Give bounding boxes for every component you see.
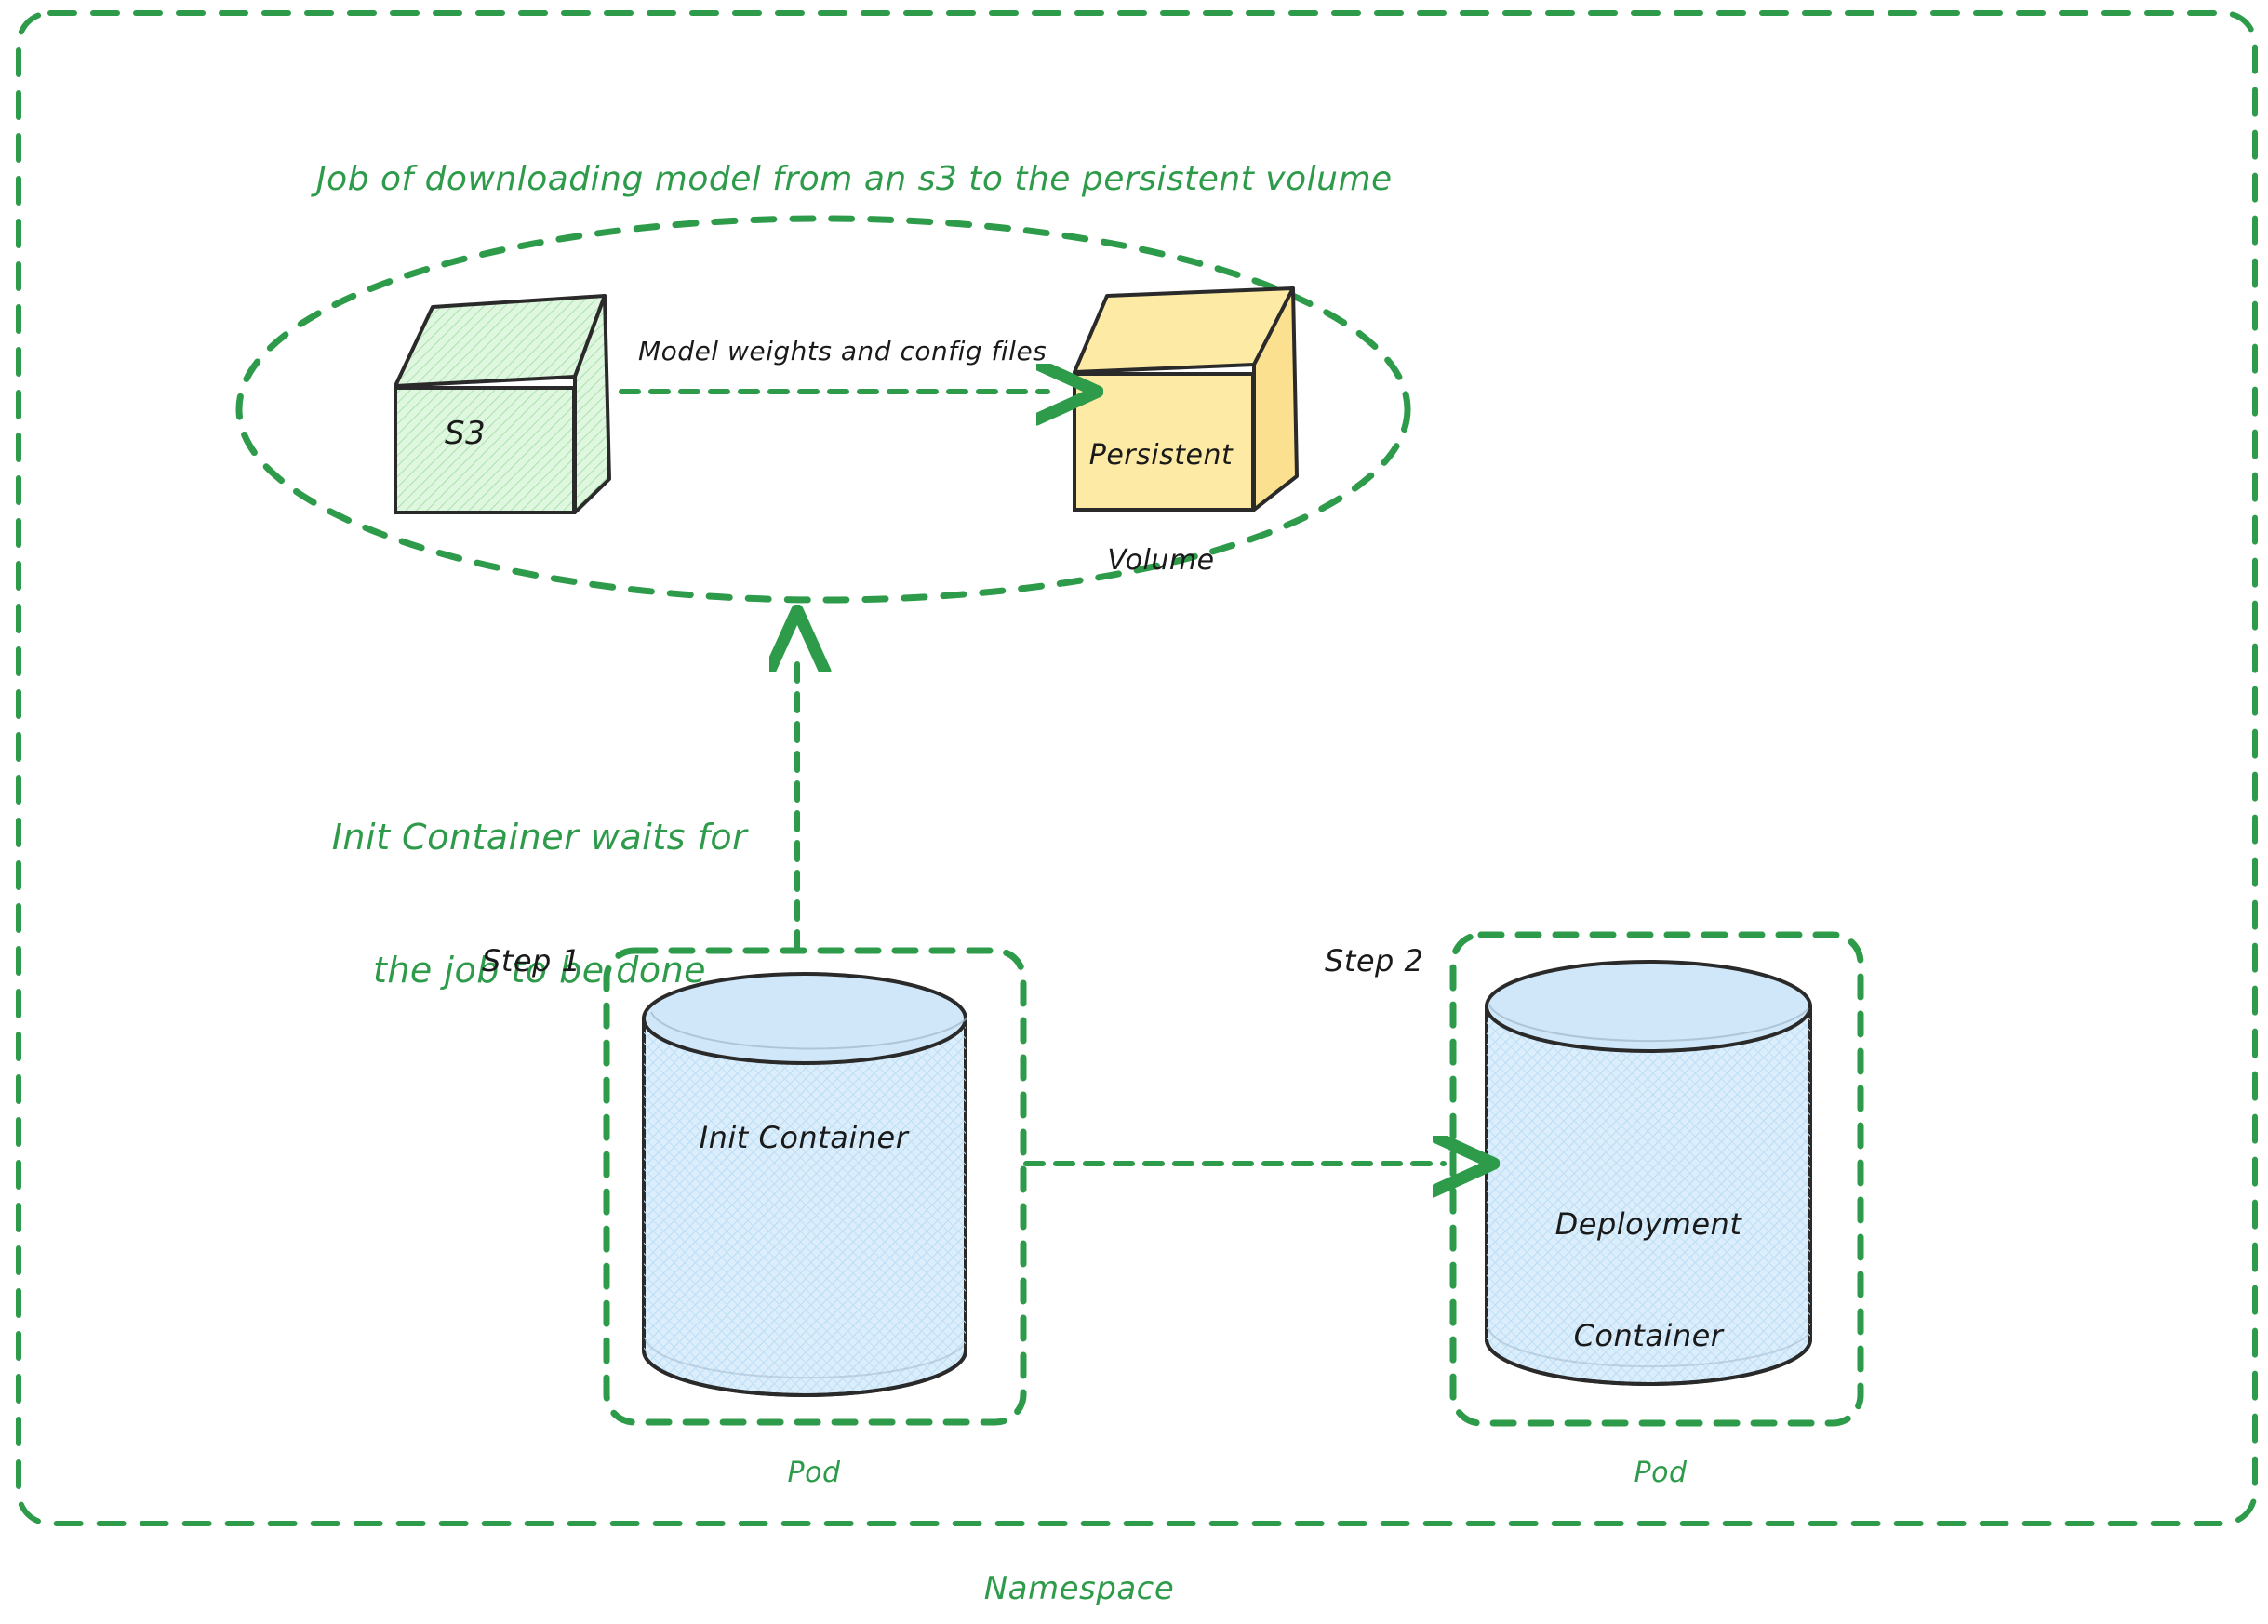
persistent-volume-label-line2: Volume — [1082, 543, 1240, 579]
s3-cube — [395, 296, 609, 512]
wait-edge-label: Init Container waits for the job to be d… — [293, 727, 786, 1081]
job-group-title: Job of downloading model from an s3 to t… — [316, 158, 1393, 200]
persistent-volume-label-line1: Persistent — [1082, 438, 1240, 473]
deployment-container-label-line1: Deployment — [1487, 1205, 1810, 1243]
step-1-label: Step 1 — [482, 942, 580, 979]
wait-edge-label-line1: Init Container waits for — [293, 816, 786, 860]
pod-2-label: Pod — [1451, 1456, 1870, 1491]
deployment-container-label-line2: Container — [1487, 1317, 1810, 1354]
persistent-volume-label: Persistent Volume — [1082, 368, 1240, 647]
step-2-label: Step 2 — [1325, 942, 1423, 979]
pod-1-label: Pod — [605, 1456, 1023, 1491]
edge-label-model-weights: Model weights and config files — [638, 335, 1047, 367]
namespace-label: Namespace — [893, 1569, 1265, 1609]
init-container-label: Init Container — [642, 1119, 966, 1156]
deployment-container-label: Deployment Container — [1487, 1131, 1810, 1429]
diagram-canvas: Job of downloading model from an s3 to t… — [0, 0, 2268, 1624]
s3-cube-label: S3 — [445, 414, 486, 454]
